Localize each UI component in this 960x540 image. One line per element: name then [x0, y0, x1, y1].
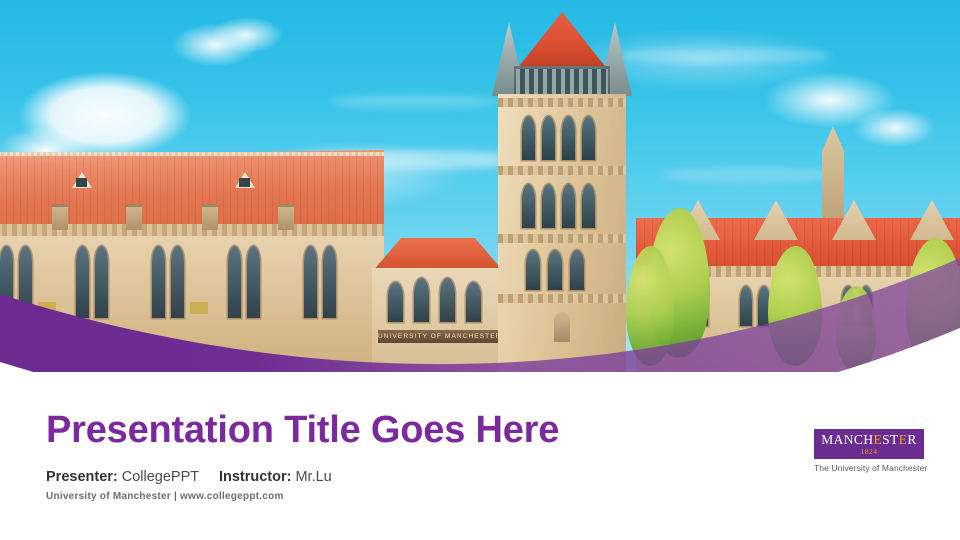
- clock-tower: [492, 0, 632, 380]
- arched-window: [440, 278, 455, 322]
- arched-window: [740, 286, 752, 326]
- logo-word-post: ST: [882, 432, 899, 447]
- roof-ridge: [0, 152, 384, 156]
- presentation-slide: UNIVERSITY OF MANCHESTER: [0, 0, 960, 540]
- tower-window: [522, 184, 535, 228]
- tower-band: [498, 98, 626, 107]
- arched-window: [304, 246, 317, 318]
- arched-window: [228, 246, 241, 318]
- chimney: [126, 204, 142, 230]
- logo-word-tail: R: [907, 432, 916, 447]
- chimney: [52, 204, 68, 230]
- logo-wordmark: MANCHESTER: [821, 433, 917, 447]
- tower-window: [570, 250, 584, 290]
- dormer-window: [76, 178, 87, 187]
- arched-window: [95, 246, 108, 318]
- arched-window: [323, 246, 336, 318]
- logo-tagline: The University of Manchester: [814, 463, 924, 473]
- logo-founding-year: 1824: [861, 448, 878, 456]
- arched-window: [414, 278, 429, 322]
- cloud-wisp: [620, 48, 830, 63]
- tower-band: [498, 234, 626, 243]
- tower-window: [562, 184, 575, 228]
- tower-red-roof: [516, 12, 608, 70]
- presenter-label: Presenter:: [46, 469, 118, 485]
- tower-window: [582, 184, 595, 228]
- instructor-value: Mr.Lu: [295, 469, 331, 485]
- footer-credit: University of Manchester | www.collegepp…: [46, 491, 284, 502]
- tree: [836, 286, 876, 372]
- building-sign: UNIVERSITY OF MANCHESTER: [378, 330, 498, 343]
- university-logo: MANCHESTER 1824 The University of Manche…: [814, 429, 924, 473]
- hero-photo: UNIVERSITY OF MANCHESTER: [0, 0, 960, 380]
- cloud-wisp: [330, 95, 500, 108]
- arched-window: [171, 246, 184, 318]
- tower-window: [542, 116, 555, 160]
- presenter-line: Presenter: CollegePPT Instructor: Mr.Lu: [46, 469, 332, 485]
- arched-window: [0, 246, 13, 318]
- tower-window: [542, 184, 555, 228]
- arched-window: [466, 282, 481, 322]
- chimney: [202, 204, 218, 230]
- tower-band: [498, 166, 626, 175]
- tower-window: [562, 116, 575, 160]
- instructor-label: Instructor:: [219, 469, 292, 485]
- mid-hall-roof: [372, 238, 504, 272]
- tower-band: [498, 294, 626, 303]
- chimney: [278, 204, 294, 230]
- arched-window: [247, 246, 260, 318]
- logo-purple-box: MANCHESTER 1824: [814, 429, 924, 459]
- left-wing-building: [0, 150, 384, 380]
- mid-hall-building: UNIVERSITY OF MANCHESTER: [372, 238, 504, 380]
- tower-window: [526, 250, 540, 290]
- logo-word-pre: MANCH: [821, 432, 873, 447]
- tower-window: [522, 116, 535, 160]
- page-title: Presentation Title Goes Here: [46, 409, 559, 452]
- tower-window: [582, 116, 595, 160]
- tower-window: [548, 250, 562, 290]
- arched-window: [388, 282, 403, 322]
- cloud-wisp: [660, 168, 840, 182]
- arched-window: [19, 246, 32, 318]
- wall-plaque: [38, 302, 56, 314]
- dormer-window: [239, 178, 250, 187]
- wall-plaque: [190, 302, 208, 314]
- tower-statue-niche: [554, 312, 570, 342]
- arched-window: [152, 246, 165, 318]
- presenter-value: CollegePPT: [122, 469, 199, 485]
- arched-window: [76, 246, 89, 318]
- logo-word-accent: E: [873, 432, 882, 447]
